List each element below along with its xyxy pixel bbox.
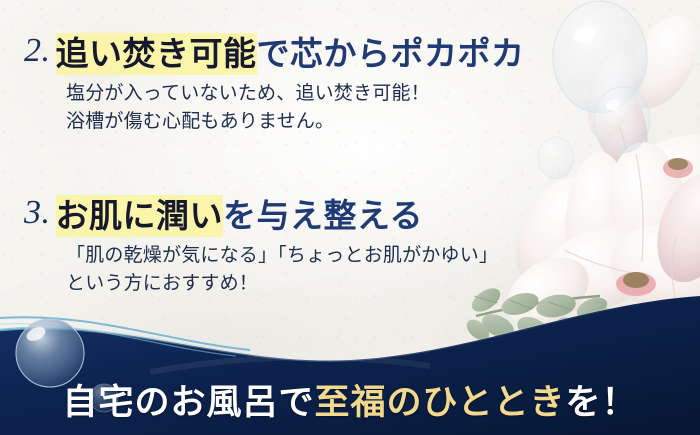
feature-3-heading: 3. お肌に潤いを与え整える bbox=[0, 198, 700, 232]
feature-3-heading-highlight: お肌に潤い bbox=[56, 195, 224, 237]
feature-2-heading-highlight: 追い焚き可能 bbox=[56, 33, 257, 75]
content-layer: 2. 追い焚き可能で芯からポカポカ 塩分が入っていないため、追い焚き可能！ 浴槽… bbox=[0, 0, 700, 435]
banner-text-white-end: を！ bbox=[565, 382, 637, 423]
banner-text: 自宅のお風呂で至福のひとときを！ bbox=[63, 374, 638, 425]
feature-3-number: 3. bbox=[24, 196, 56, 230]
banner-text-gold: 至福のひととき bbox=[315, 382, 566, 423]
feature-3-body-line-1: 「肌の乾燥が気になる」「ちょっとお肌がかゆい」 bbox=[66, 242, 700, 269]
feature-2-body: 塩分が入っていないため、追い焚き可能！ 浴槽が傷む心配もありません。 bbox=[0, 80, 700, 135]
feature-2-heading-text: 追い焚き可能で芯からポカポカ bbox=[56, 37, 525, 70]
feature-2-heading: 2. 追い焚き可能で芯からポカポカ bbox=[0, 36, 700, 70]
feature-3-heading-rest: を与え整える bbox=[223, 196, 423, 235]
feature-3-body: 「肌の乾燥が気になる」「ちょっとお肌がかゆい」 という方におすすめ！ bbox=[0, 242, 700, 297]
feature-3-body-line-2: という方におすすめ！ bbox=[66, 270, 700, 297]
promo-banner-canvas: 2. 追い焚き可能で芯からポカポカ 塩分が入っていないため、追い焚き可能！ 浴槽… bbox=[0, 0, 700, 435]
feature-2-heading-rest: で芯からポカポカ bbox=[257, 34, 525, 73]
feature-section-2: 2. 追い焚き可能で芯からポカポカ 塩分が入っていないため、追い焚き可能！ 浴槽… bbox=[0, 36, 700, 136]
feature-3-heading-text: お肌に潤いを与え整える bbox=[56, 199, 424, 232]
feature-2-number: 2. bbox=[24, 34, 56, 68]
feature-section-3: 3. お肌に潤いを与え整える 「肌の乾燥が気になる」「ちょっとお肌がかゆい」 と… bbox=[0, 198, 700, 298]
feature-2-body-line-1: 塩分が入っていないため、追い焚き可能！ bbox=[66, 80, 700, 107]
banner-text-white: 自宅のお風呂で bbox=[63, 382, 315, 423]
bottom-banner: 自宅のお風呂で至福のひとときを！ bbox=[0, 363, 700, 435]
feature-2-body-line-2: 浴槽が傷む心配もありません。 bbox=[66, 108, 700, 135]
